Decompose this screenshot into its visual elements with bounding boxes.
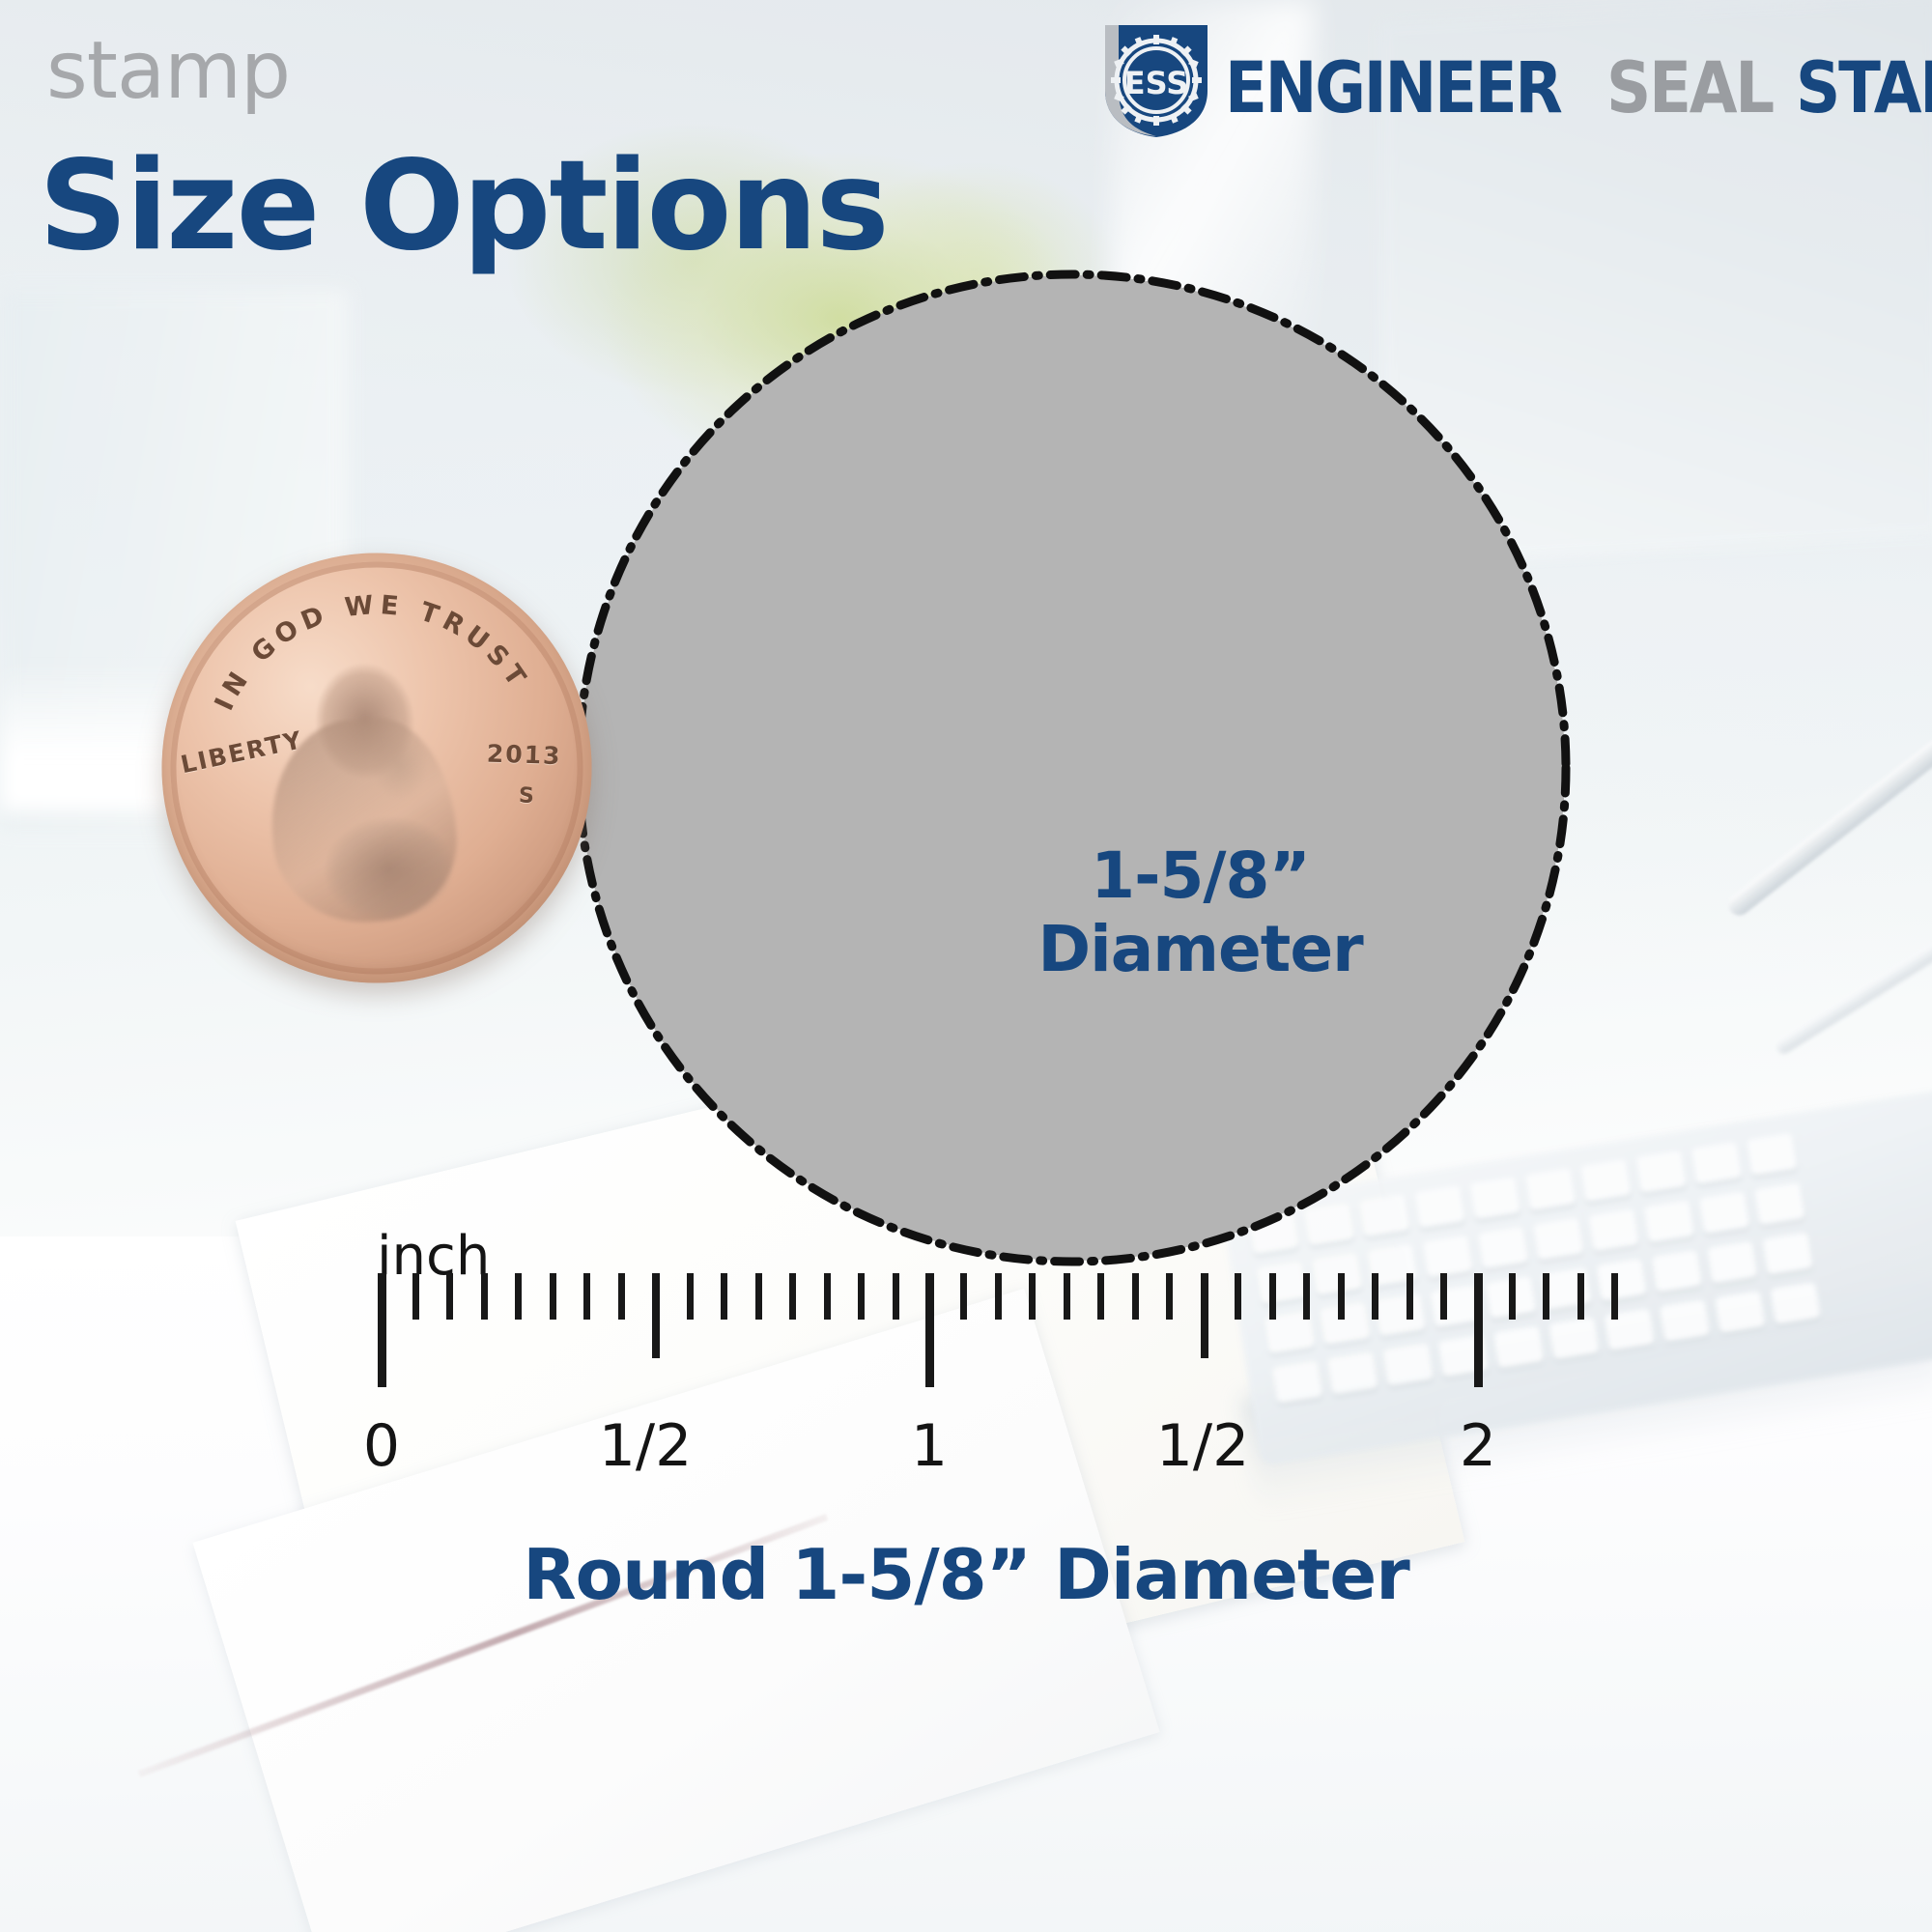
keyboard-key — [1715, 1291, 1766, 1334]
keyboard-key — [1698, 1191, 1749, 1235]
keyboard-key — [1754, 1182, 1805, 1226]
keyboard-key — [1635, 1151, 1687, 1194]
keyboard-key — [1437, 1334, 1489, 1378]
coin-year-text: 2013 — [487, 739, 563, 770]
keyboard-key — [1707, 1240, 1758, 1284]
keyboard-key — [1359, 1194, 1410, 1237]
keyboard-key — [1524, 1168, 1576, 1211]
keyboard-key — [1271, 1360, 1322, 1404]
keyboard-key — [1548, 1317, 1600, 1360]
company-logo[interactable]: ESS ENGINEER SEAL STAMPS .COM — [1099, 17, 1911, 143]
keyboard-key — [1264, 1311, 1315, 1354]
logo-wordmark: ENGINEER SEAL STAMPS .COM — [1225, 43, 1932, 117]
shield-gear-icon: ESS — [1099, 21, 1213, 139]
keyboard-key — [1327, 1351, 1378, 1395]
keyboard-key — [1604, 1308, 1655, 1351]
brand-word: stamp — [46, 25, 290, 117]
keyboard-key — [1477, 1226, 1528, 1269]
keyboard-key — [1643, 1200, 1694, 1243]
keyboard-key — [1770, 1282, 1821, 1325]
keyboard-key — [1414, 1185, 1465, 1229]
coin-mint-mark: S — [519, 783, 537, 809]
logo-monogram: ESS — [1124, 65, 1189, 101]
keyboard-key — [1762, 1232, 1813, 1275]
keyboard-key — [1367, 1244, 1418, 1288]
keyboard-key — [1485, 1276, 1536, 1320]
keyboard-key — [1382, 1343, 1434, 1386]
logo-name-part1: ENGINEER — [1225, 61, 1561, 117]
keyboard-key — [1469, 1177, 1520, 1220]
logo-name-part2: SEAL — [1606, 61, 1773, 117]
keyboard-key — [1375, 1293, 1426, 1337]
keyboard-key — [1533, 1217, 1584, 1261]
keyboard-key — [1320, 1302, 1371, 1346]
keyboard-key — [1422, 1235, 1473, 1278]
keyboard-key — [1659, 1299, 1710, 1343]
keyboard-key — [1596, 1259, 1647, 1302]
keyboard-key — [1580, 1159, 1632, 1203]
page-title: Size Options — [39, 145, 888, 269]
keyboard-key — [1651, 1250, 1702, 1293]
keyboard-key — [1747, 1133, 1798, 1177]
background-stylus-2 — [1774, 910, 1932, 1056]
keyboard-key — [1588, 1208, 1639, 1252]
keyboard-key — [1493, 1325, 1545, 1369]
keyboard-key — [1311, 1253, 1362, 1296]
size-circle-fill — [580, 275, 1565, 1261]
keyboard-key — [1256, 1262, 1307, 1305]
keyboard-key — [1430, 1285, 1481, 1328]
keyboard-key — [1690, 1142, 1742, 1185]
keyboard-key — [1303, 1203, 1354, 1246]
logo-name-part3: STAMPS — [1796, 61, 1932, 117]
size-caption: Round 1-5/8” Diameter — [0, 1534, 1932, 1615]
background-stylus — [1724, 724, 1932, 920]
keyboard-key — [1541, 1267, 1592, 1311]
